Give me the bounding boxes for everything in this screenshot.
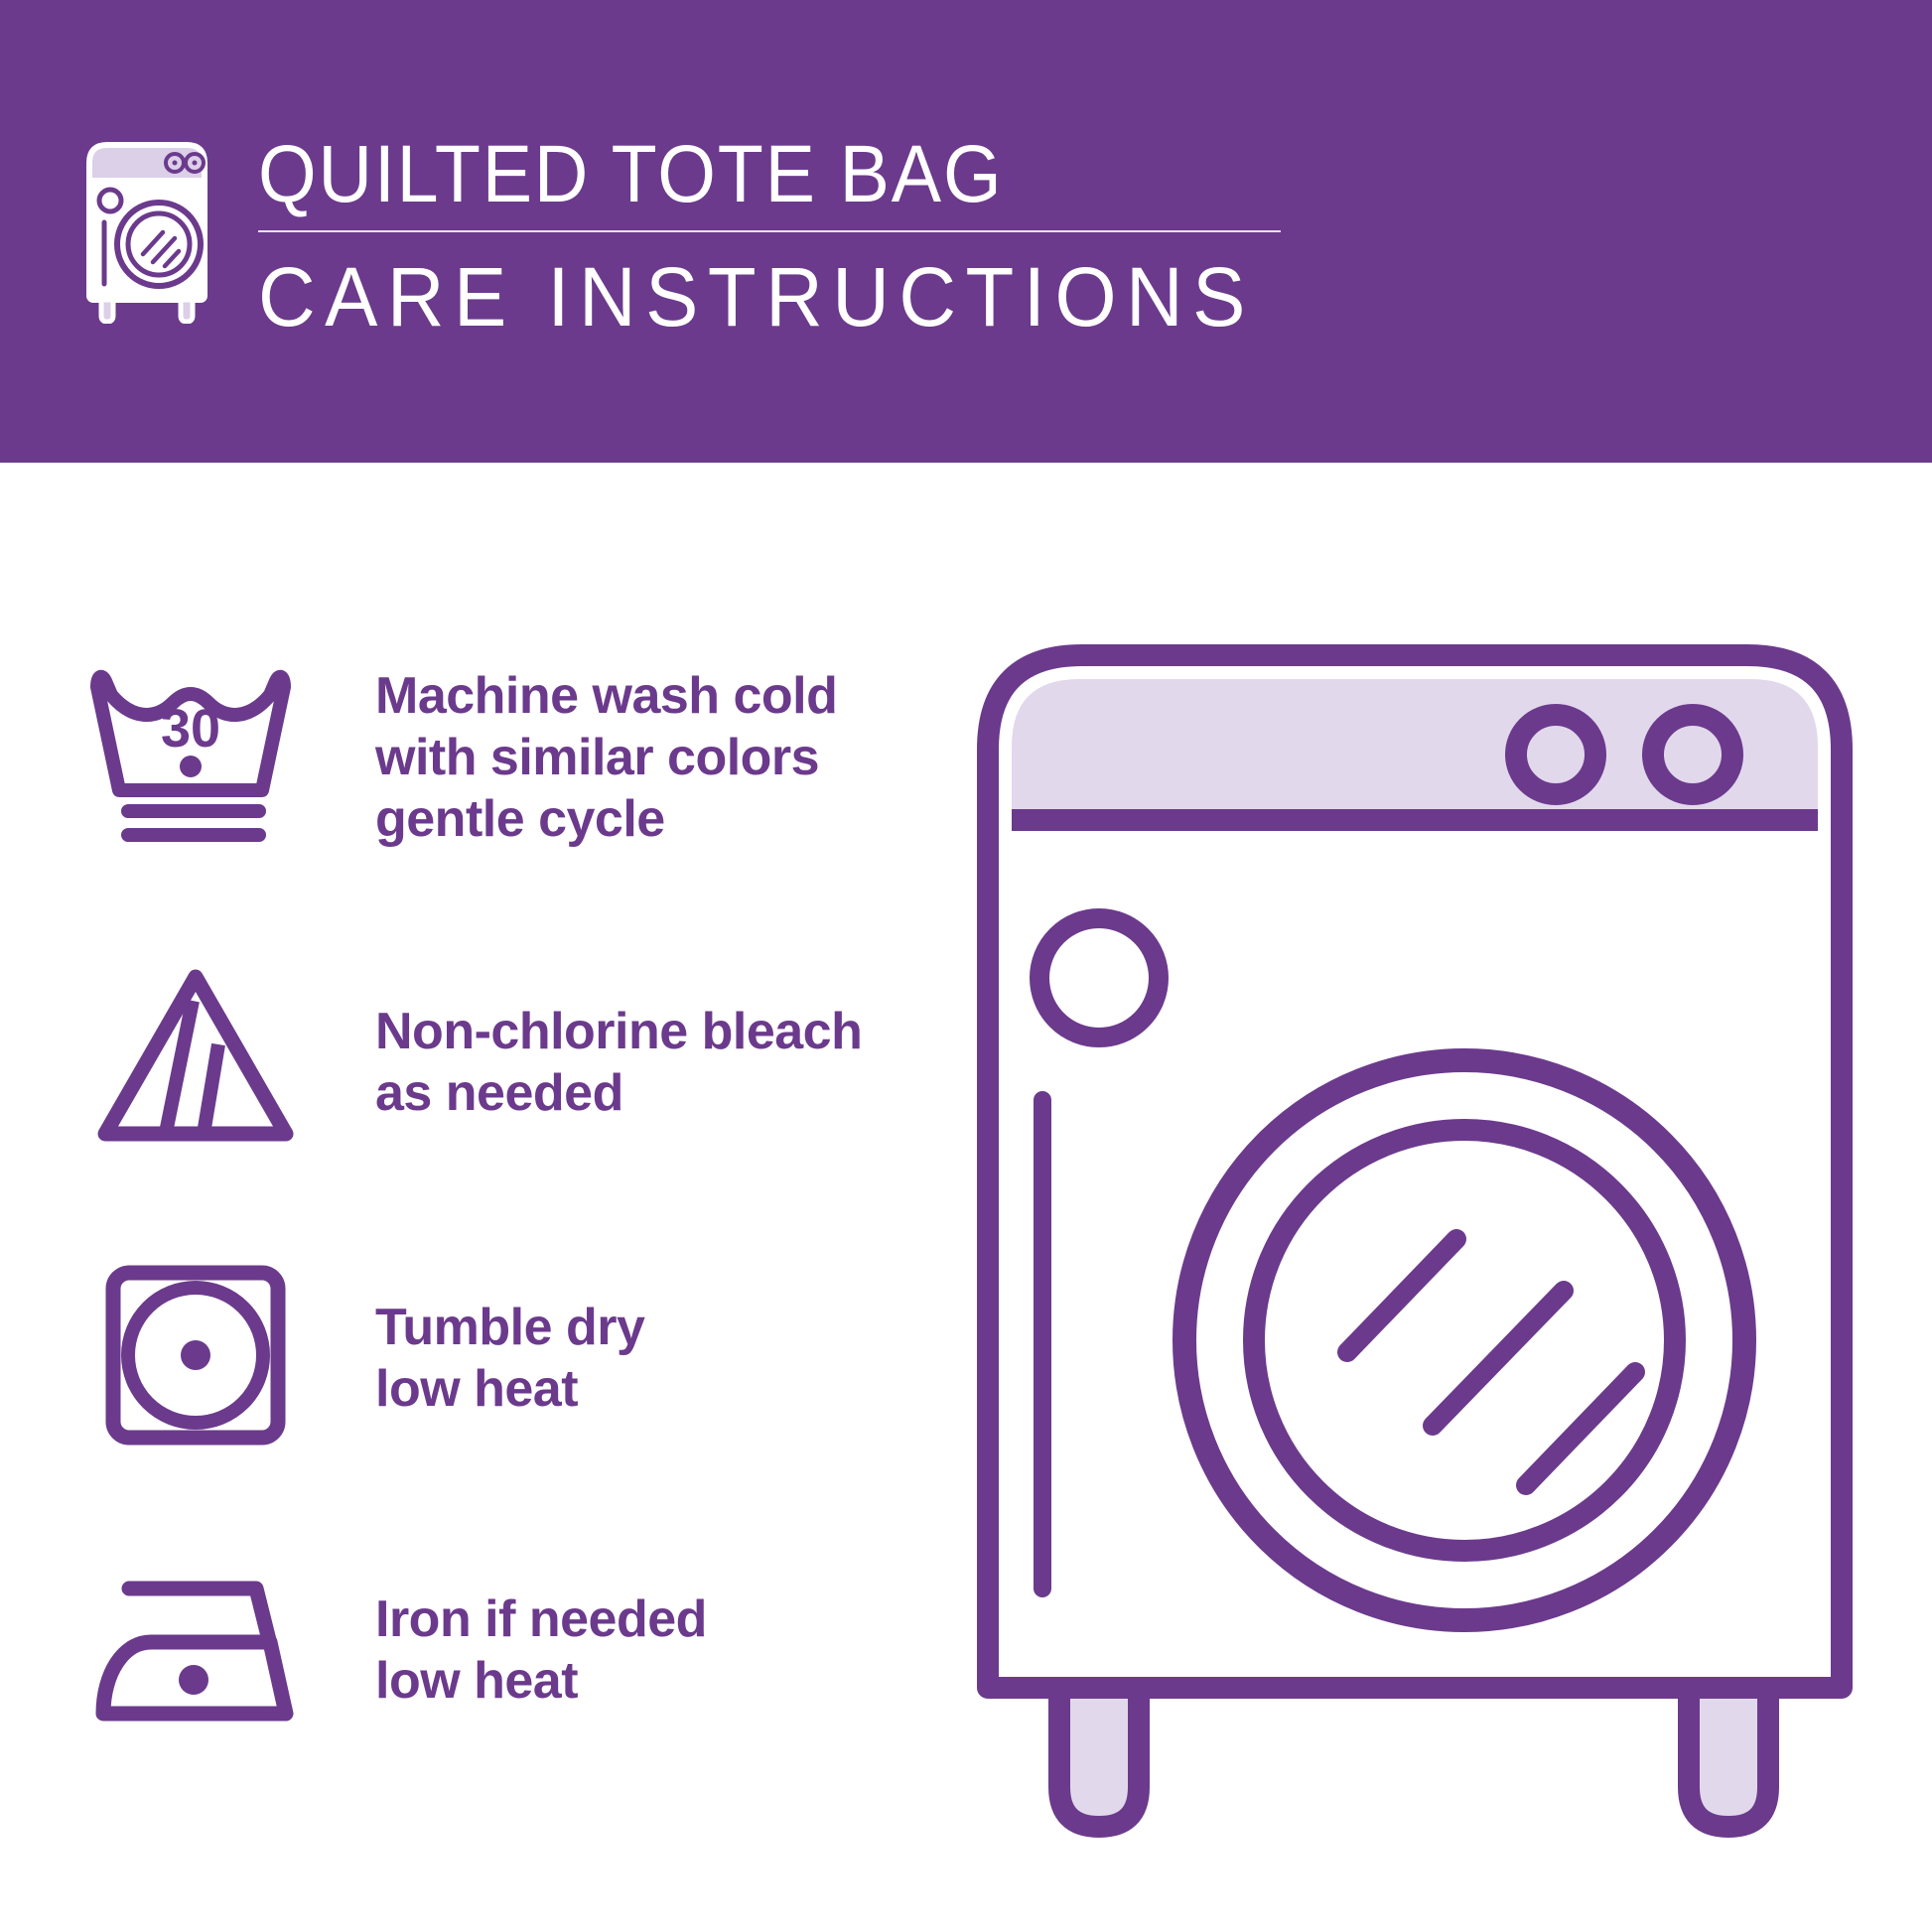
page-title: QUILTED TOTE BAG (258, 129, 1243, 220)
header-title-group: QUILTED TOTE BAG CARE INSTRUCTIONS (258, 127, 1328, 344)
washer-leg (1689, 1688, 1768, 1827)
iron-icon (81, 1539, 310, 1767)
control-knob (1653, 715, 1732, 794)
title-divider (258, 230, 1281, 232)
control-knob (1516, 715, 1595, 794)
front-load-washing-machine-illustration (968, 635, 1862, 1886)
washer-leg (1059, 1688, 1139, 1827)
header-banner: QUILTED TOTE BAG CARE INSTRUCTIONS (0, 0, 1932, 463)
care-instructions-infographic: QUILTED TOTE BAG CARE INSTRUCTIONS 30 (0, 0, 1932, 1932)
page-subtitle: CARE INSTRUCTIONS (258, 250, 1275, 344)
washing-machine-icon (77, 135, 216, 324)
wash-temperature-label: 30 (161, 699, 220, 759)
list-item: Iron if needed low heat (81, 1539, 935, 1837)
list-item-label: Iron if needed low heat (375, 1539, 935, 1712)
care-instruction-list: 30 Machine wash cold with similar colors… (81, 645, 935, 1837)
header-content: QUILTED TOTE BAG CARE INSTRUCTIONS (77, 127, 1328, 345)
list-item-label: Machine wash cold with similar colors ge… (375, 645, 935, 850)
list-item: Tumble dry low heat (81, 1241, 935, 1539)
wash-tub-icon: 30 (81, 645, 310, 874)
list-item: 30 Machine wash cold with similar colors… (81, 645, 935, 943)
bleach-triangle-icon (81, 943, 310, 1172)
tumble-dry-icon (81, 1241, 310, 1469)
list-item: Non-chlorine bleach as needed (81, 943, 935, 1241)
list-item-label: Non-chlorine bleach as needed (375, 943, 935, 1124)
list-item-label: Tumble dry low heat (375, 1241, 935, 1420)
